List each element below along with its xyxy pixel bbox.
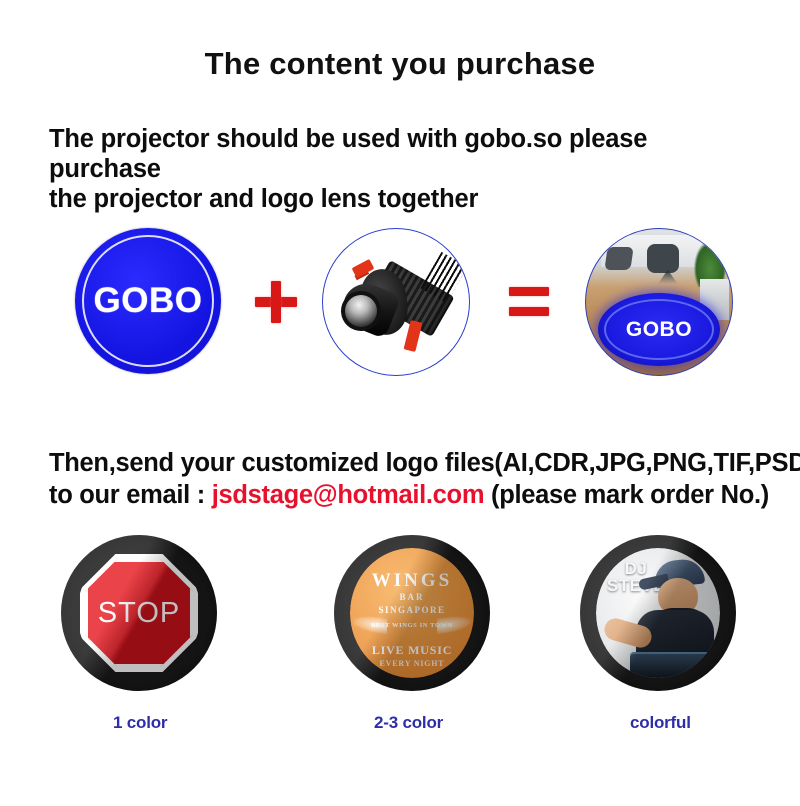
intro-line-1: The projector should be used with gobo.s…: [49, 124, 759, 184]
wings-bar-logo: WINGS BAR SINGAPORE BEST WINGS IN TOWN L…: [350, 548, 474, 678]
projection-label: GOBO: [626, 318, 692, 342]
plus-icon: [255, 281, 297, 323]
caption-colorful: colorful: [630, 713, 691, 733]
wings-line-2: BAR: [350, 592, 474, 602]
projector-clip-icon: [404, 320, 423, 352]
caption-2-3-color: 2-3 color: [374, 713, 443, 733]
email-line-2: to our email : jsdstage@hotmail.com (ple…: [49, 479, 779, 511]
gobo-source-disc: GOBO: [75, 228, 221, 374]
wings-line-6: EVERY NIGHT: [350, 659, 474, 668]
wings-line-5: LIVE MUSIC: [350, 643, 474, 658]
page-title: The content you purchase: [0, 46, 800, 82]
email-prefix: to our email :: [49, 481, 205, 509]
email-address[interactable]: jsdstage@hotmail.com: [212, 481, 485, 509]
sample-disc-wings: WINGS BAR SINGAPORE BEST WINGS IN TOWN L…: [334, 535, 490, 691]
wings-line-4: BEST WINGS IN TOWN: [350, 622, 474, 630]
mixer-icon: [630, 652, 720, 678]
projection-result-disc: GOBO: [585, 228, 733, 376]
floor-projection: GOBO: [598, 293, 721, 366]
stop-sign-text: STOP: [98, 597, 180, 630]
sample-disc-dj: DJ STEVE: [580, 535, 736, 691]
stop-sign-icon: STOP: [77, 548, 201, 678]
dj-steve-logo: DJ STEVE: [596, 548, 720, 678]
projector-circle: [322, 228, 470, 376]
intro-line-2: the projector and logo lens together: [49, 184, 759, 214]
email-instructions: Then,send your customized logo files(AI,…: [49, 447, 779, 511]
projector-icon: [323, 229, 469, 375]
intro-paragraph: The projector should be used with gobo.s…: [49, 124, 759, 214]
gobo-disc-label: GOBO: [94, 281, 203, 321]
wings-line-1: WINGS: [350, 570, 474, 592]
wings-line-3: SINGAPORE: [350, 605, 474, 615]
promo-page: The content you purchase The projector s…: [0, 0, 800, 806]
email-suffix: (please mark order No.): [491, 481, 769, 509]
email-line-1: Then,send your customized logo files(AI,…: [49, 447, 779, 479]
caption-1-color: 1 color: [113, 713, 167, 733]
equals-icon: [509, 285, 549, 319]
sample-disc-stop: STOP: [61, 535, 217, 691]
